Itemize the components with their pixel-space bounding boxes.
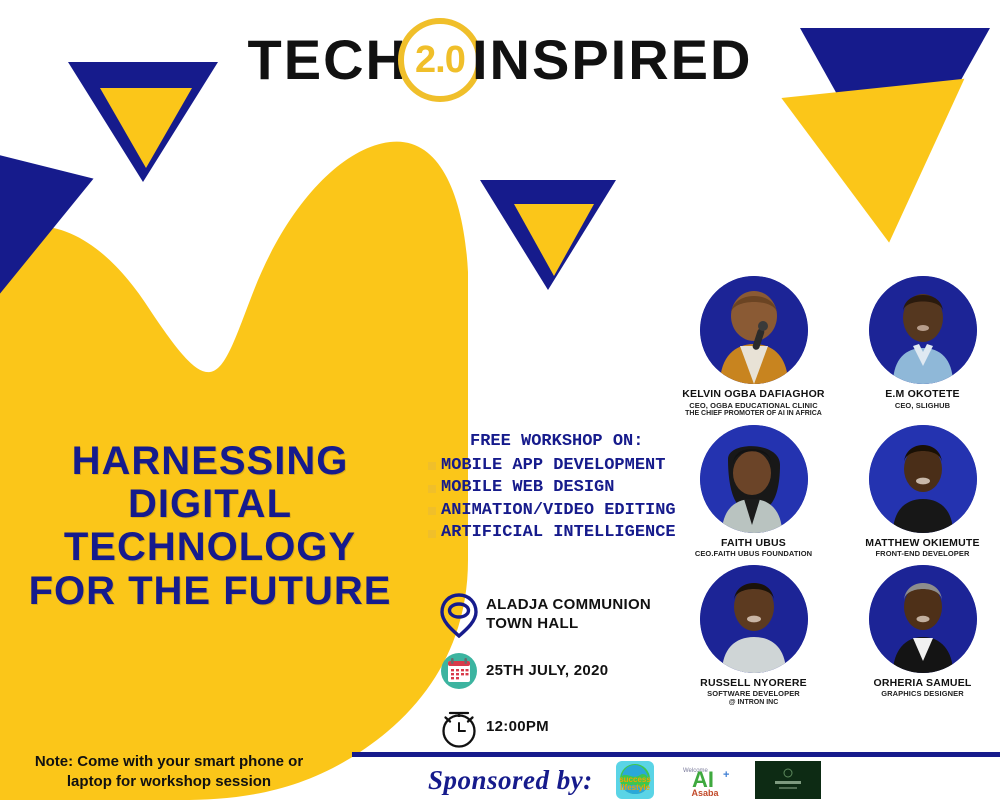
avatar <box>700 425 808 533</box>
svg-text:Asaba: Asaba <box>691 788 719 798</box>
speaker-card: RUSSELL NYORERE SOFTWARE DEVELOPER @ INT… <box>676 565 831 708</box>
speaker-name: ORHERIA SAMUEL <box>845 677 1000 690</box>
bullet-square-icon <box>428 485 436 493</box>
speaker-name: MATTHEW OKIEMUTE <box>845 537 1000 550</box>
venue-text: ALADJA COMMUNION TOWN HALL <box>486 596 651 634</box>
speaker-row-2: FAITH UBUS CEO.FAITH UBUS FOUNDATION MAT… <box>676 425 1000 559</box>
stopwatch-icon <box>432 704 486 750</box>
detail-row-time: 12:00PM <box>432 704 651 750</box>
date-line-1: 25TH JULY, 2020 <box>486 662 608 681</box>
success-lifestyle-logo: success lifestyle <box>615 760 655 800</box>
sponsored-by-label: Sponsored by: <box>428 765 593 796</box>
avatar <box>869 565 977 673</box>
speaker-row-3: RUSSELL NYORERE SOFTWARE DEVELOPER @ INT… <box>676 565 1000 708</box>
event-flyer: TECH 2.0 INSPIRED HARNESSING DIGITAL TEC… <box>0 0 1000 800</box>
logo-circle-badge: 2.0 <box>398 18 482 102</box>
workshop-topics: FREE WORKSHOP ON: MOBILE APP DEVELOPMENT… <box>428 432 676 545</box>
page-title: HARNESSING DIGITAL TECHNOLOGY FOR THE FU… <box>10 440 410 613</box>
headline-line-4: FOR THE FUTURE <box>10 570 410 613</box>
avatar <box>700 276 808 384</box>
time-line-1: 12:00PM <box>486 718 549 737</box>
headline-line-1: HARNESSING <box>10 440 410 483</box>
detail-row-venue: ALADJA COMMUNION TOWN HALL <box>432 592 651 638</box>
avatar <box>700 565 808 673</box>
attendee-note: Note: Come with your smart phone or lapt… <box>14 752 324 793</box>
avatar <box>869 425 977 533</box>
footer-divider <box>352 752 1000 757</box>
ai-asaba-logo: Welcome AI + Asaba <box>669 760 741 800</box>
speaker-card: E.M OKOTETE CEO, SLIGHUB <box>845 276 1000 419</box>
headline-line-2: DIGITAL <box>10 483 410 526</box>
logo-version-text: 2.0 <box>415 39 465 82</box>
date-text: 25TH JULY, 2020 <box>486 662 608 681</box>
venue-line-1: ALADJA COMMUNION <box>486 596 651 615</box>
dark-green-sponsor-logo <box>755 761 821 799</box>
gold-triangle-center <box>514 204 594 276</box>
workshop-item-label: ARTIFICIAL INTELLIGENCE <box>441 522 676 544</box>
list-item: ARTIFICIAL INTELLIGENCE <box>428 522 676 544</box>
detail-row-date: 25TH JULY, 2020 <box>432 652 651 690</box>
workshop-topic-list: MOBILE APP DEVELOPMENT MOBILE WEB DESIGN… <box>428 455 676 545</box>
speaker-role: GRAPHICS DESIGNER <box>845 689 1000 698</box>
speaker-row-1: KELVIN OGBA DAFIAGHOR CEO, OGBA EDUCATIO… <box>676 276 1000 419</box>
event-details: ALADJA COMMUNION TOWN HALL <box>432 592 651 764</box>
logo-word-tech: TECH <box>248 32 408 88</box>
brand-logo: TECH 2.0 INSPIRED <box>248 18 753 102</box>
speakers-grid: KELVIN OGBA DAFIAGHOR CEO, OGBA EDUCATIO… <box>676 276 1000 713</box>
speaker-card: KELVIN OGBA DAFIAGHOR CEO, OGBA EDUCATIO… <box>676 276 831 419</box>
speaker-role: FRONT-END DEVELOPER <box>845 549 1000 558</box>
bullet-square-icon <box>428 530 436 538</box>
speaker-role-secondary: THE CHIEF PROMOTER OF AI IN AFRICA <box>676 410 831 419</box>
time-text: 12:00PM <box>486 718 549 737</box>
speaker-role: CEO, SLIGHUB <box>845 401 1000 410</box>
workshop-title: FREE WORKSHOP ON: <box>470 432 676 451</box>
speaker-card: ORHERIA SAMUEL GRAPHICS DESIGNER <box>845 565 1000 708</box>
speaker-role: CEO.FAITH UBUS FOUNDATION <box>676 549 831 558</box>
speaker-role: SOFTWARE DEVELOPER <box>676 689 831 698</box>
gold-triangle-top-right <box>781 79 980 252</box>
venue-line-2: TOWN HALL <box>486 615 651 634</box>
bullet-square-icon <box>428 507 436 515</box>
list-item: ANIMATION/VIDEO EDITING <box>428 500 676 522</box>
list-item: MOBILE APP DEVELOPMENT <box>428 455 676 477</box>
note-line-1: Note: Come with your smart phone or <box>14 752 324 772</box>
flyer-header: TECH 2.0 INSPIRED <box>0 18 1000 102</box>
svg-text:+: + <box>723 769 729 781</box>
speaker-name: E.M OKOTETE <box>845 388 1000 401</box>
logo-word-inspired: INSPIRED <box>472 32 753 88</box>
speaker-role-secondary: @ INTRON INC <box>676 699 831 708</box>
list-item: MOBILE WEB DESIGN <box>428 477 676 499</box>
workshop-item-label: MOBILE APP DEVELOPMENT <box>441 455 665 477</box>
sponsors-bar: Sponsored by: success lifestyle Welcome … <box>352 760 1000 800</box>
workshop-item-label: ANIMATION/VIDEO EDITING <box>441 500 676 522</box>
calendar-icon <box>432 652 486 690</box>
headline-line-3: TECHNOLOGY <box>10 526 410 569</box>
speaker-card: MATTHEW OKIEMUTE FRONT-END DEVELOPER <box>845 425 1000 559</box>
avatar <box>869 276 977 384</box>
speaker-role: CEO, OGBA EDUCATIONAL CLINIC <box>676 401 831 410</box>
speaker-name: RUSSELL NYORERE <box>676 677 831 690</box>
note-line-2: laptop for workshop session <box>14 772 324 792</box>
svg-text:lifestyle: lifestyle <box>620 783 650 792</box>
speaker-name: KELVIN OGBA DAFIAGHOR <box>676 388 831 401</box>
bullet-square-icon <box>428 462 436 470</box>
workshop-item-label: MOBILE WEB DESIGN <box>441 477 614 499</box>
speaker-name: FAITH UBUS <box>676 537 831 550</box>
speaker-card: FAITH UBUS CEO.FAITH UBUS FOUNDATION <box>676 425 831 559</box>
location-pin-icon <box>432 592 486 638</box>
